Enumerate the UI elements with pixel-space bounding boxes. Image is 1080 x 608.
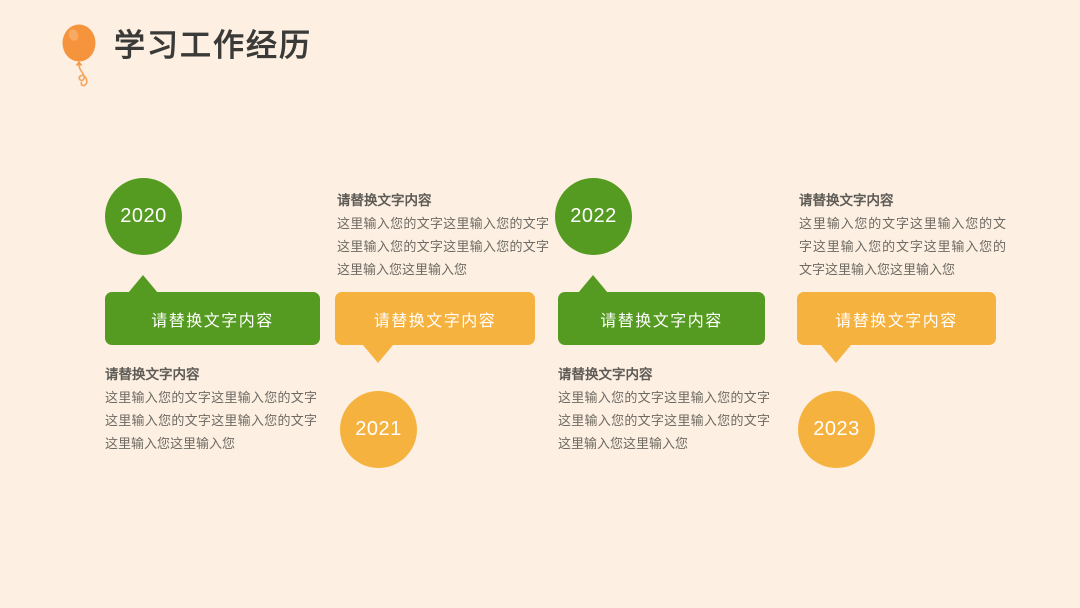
description-body: 这里输入您的文字这里输入您的文字这里输入您的文字这里输入您的文字这里输入您这里输… [799,212,1006,281]
slide-header: 学习工作经历 [0,0,1080,110]
banner-pointer-2022 [578,275,608,293]
banner-2021[interactable]: 请替换文字内容 [335,292,535,345]
banner-2023[interactable]: 请替换文字内容 [797,292,996,345]
banner-label: 请替换文字内容 [600,307,723,331]
description-title: 请替换文字内容 [799,190,1006,211]
page-title: 学习工作经历 [114,24,312,68]
balloon-icon [57,20,109,88]
year-label: 2023 [813,418,860,441]
description-body: 这里输入您的文字这里输入您的文字这里输入您的文字这里输入您的文字这里输入您这里输… [558,386,770,455]
description-body: 这里输入您的文字这里输入您的文字这里输入您的文字这里输入您的文字这里输入您这里输… [337,212,549,281]
banner-pointer-2020 [128,275,158,293]
description-2020: 请替换文字内容 这里输入您的文字这里输入您的文字这里输入您的文字这里输入您的文字… [105,364,317,455]
description-2021: 请替换文字内容 这里输入您的文字这里输入您的文字这里输入您的文字这里输入您的文字… [337,190,549,281]
banner-label: 请替换文字内容 [374,307,497,331]
banner-2020[interactable]: 请替换文字内容 [105,292,320,345]
banner-pointer-2021 [363,345,393,363]
description-2023: 请替换文字内容 这里输入您的文字这里输入您的文字这里输入您的文字这里输入您的文字… [799,190,1006,281]
description-body: 这里输入您的文字这里输入您的文字这里输入您的文字这里输入您的文字这里输入您这里输… [105,386,317,455]
banner-pointer-2023 [821,345,851,363]
banner-2022[interactable]: 请替换文字内容 [558,292,765,345]
year-circle-2022[interactable]: 2022 [555,178,632,255]
year-circle-2021[interactable]: 2021 [340,391,417,468]
banner-label: 请替换文字内容 [835,307,958,331]
slide-canvas: 学习工作经历 2020 请替换文字内容 请替换文字内容 这里输入您的文字这里输入… [0,0,1080,608]
description-2022: 请替换文字内容 这里输入您的文字这里输入您的文字这里输入您的文字这里输入您的文字… [558,364,770,455]
banner-label: 请替换文字内容 [151,307,274,331]
year-label: 2020 [120,205,167,228]
description-title: 请替换文字内容 [558,364,770,385]
year-circle-2023[interactable]: 2023 [798,391,875,468]
year-circle-2020[interactable]: 2020 [105,178,182,255]
year-label: 2021 [355,418,402,441]
description-title: 请替换文字内容 [105,364,317,385]
year-label: 2022 [570,205,617,228]
description-title: 请替换文字内容 [337,190,549,211]
